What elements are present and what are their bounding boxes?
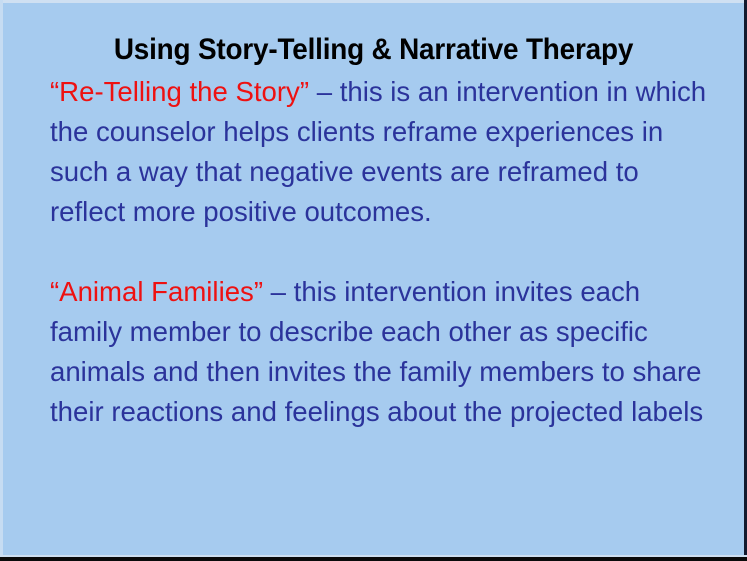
slide-border-left xyxy=(0,0,3,561)
paragraph-2-quoted-term: “Animal Families” xyxy=(50,276,263,307)
paragraph-1-quoted-term: “Re-Telling the Story” xyxy=(50,76,309,107)
presentation-slide: Using Story-Telling & Narrative Therapy … xyxy=(0,0,747,561)
slide-border-top xyxy=(0,0,747,3)
slide-body: “Re-Telling the Story” – this is an inte… xyxy=(50,72,720,432)
paragraph-re-telling-the-story: “Re-Telling the Story” – this is an inte… xyxy=(50,72,710,232)
slide-title: Using Story-Telling & Narrative Therapy xyxy=(26,32,721,68)
slide-border-bottom xyxy=(0,557,747,561)
paragraph-animal-families: “Animal Families” – this intervention in… xyxy=(50,272,710,432)
